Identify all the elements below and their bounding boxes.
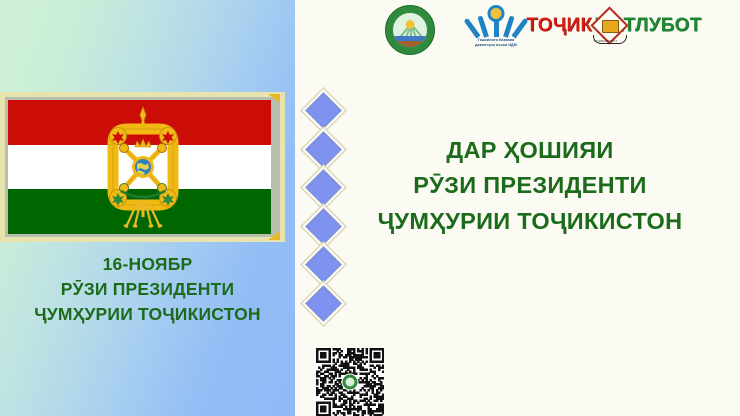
headline-line-1: ДАР ҲОШИЯИ [330, 133, 730, 168]
flag-band-red [8, 100, 271, 145]
qr-code[interactable] [316, 348, 384, 416]
tojikmatlubot-logo: ТОҶИК ТОҶИКМАТЛУБОТ МАТЛУБОТ [530, 9, 698, 53]
qr-center-logo-icon [342, 374, 359, 391]
tojikmatlubot-word-left: ТОҶИК [526, 15, 592, 37]
cis-caption: Ташкилоти базавии давлатҳои аъзои ИДМ [465, 38, 527, 48]
flag-field [8, 100, 271, 234]
left-caption-line-3: ҶУМҲУРИИ ТОҶИКИСТОН [0, 302, 295, 327]
headline-block: ДАР ҲОШИЯИ РӮЗИ ПРЕЗИДЕНТИ ҶУМҲУРИИ ТОҶИ… [330, 133, 730, 239]
headline-line-2: РӮЗИ ПРЕЗИДЕНТИ [330, 168, 730, 203]
left-caption-block: 16-НОЯБР РӮЗИ ПРЕЗИДЕНТИ ҶУМҲУРИИ ТОҶИКИ… [0, 252, 295, 327]
cis-mark [476, 5, 516, 37]
tojikmatlubot-row: ТОҶИК ТОҶИКМАТЛУБОТ МАТЛУБОТ [530, 9, 698, 43]
university-seal-icon [385, 5, 435, 55]
seal-ground-icon [393, 41, 427, 47]
badge-core-icon [602, 20, 619, 33]
cis-emblem-icon: Ташкилоти базавии давлатҳои аъзои ИДМ [465, 4, 527, 56]
presidential-standard-flag [0, 92, 285, 242]
seal-sun-icon [406, 20, 415, 29]
left-caption-line-1: 16-НОЯБР [0, 252, 295, 277]
diamond-icon [300, 280, 347, 327]
headline-line-3: ҶУМҲУРИИ ТОҶИКИСТОН [330, 204, 730, 239]
seal-inner-disc [392, 12, 428, 48]
flag-band-white [8, 145, 271, 190]
logo-bar: Ташкилоти базавии давлатҳои аъзои ИДМ ТО… [380, 4, 700, 56]
flag-band-green [8, 189, 271, 234]
slide-canvas: 16-НОЯБР РӮЗИ ПРЕЗИДЕНТИ ҶУМҲУРИИ ТОҶИКИ… [0, 0, 740, 416]
left-caption-line-2: РӮЗИ ПРЕЗИДЕНТИ [0, 277, 295, 302]
cis-sun-icon [491, 8, 502, 19]
